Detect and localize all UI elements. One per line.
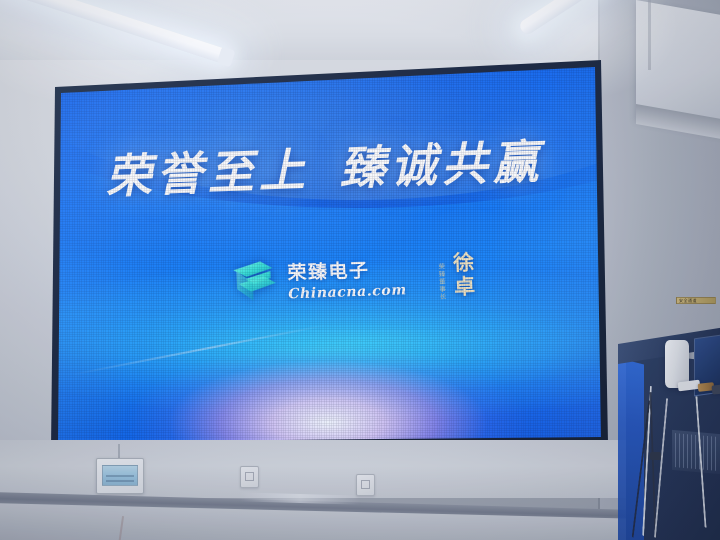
chairman-signature: 荣臻董事长 徐卓 (436, 251, 479, 301)
chinacna-logo-mark-icon (230, 258, 280, 306)
logo-company-cn: 荣臻电子 (287, 256, 370, 286)
signature-title: 荣臻董事长 (436, 263, 445, 301)
wall-sign-text: 安全通道 (679, 298, 697, 304)
cart-lower-shelf (672, 430, 720, 474)
socket-slots (361, 480, 370, 489)
headline-right-phrase: 臻诚共赢 (338, 134, 544, 195)
cart-shelf-grid (675, 433, 717, 471)
led-panel-surface: 荣誉至上臻诚共赢 (48, 60, 608, 450)
headline-left-phrase: 荣誉至上 (104, 143, 310, 204)
soffit-edge-line (648, 0, 651, 70)
wall-control-panel[interactable] (96, 458, 144, 494)
panel-readout-line (106, 475, 134, 477)
company-logo: 荣臻电子 Chinacna.com (230, 253, 407, 305)
signature-name: 徐卓 (447, 251, 479, 300)
wall-control-panel-screen (102, 465, 138, 486)
wall-socket-left[interactable] (240, 466, 259, 488)
socket-slots (245, 472, 254, 481)
cart-front-panel (618, 358, 644, 540)
power-adapter-dark (712, 384, 720, 394)
led-video-wall[interactable]: 荣誉至上臻诚共赢 (48, 60, 608, 450)
logo-text-block: 荣臻电子 Chinacna.com (287, 254, 407, 302)
room-photo-scene: 荣誉至上臻诚共赢 (0, 0, 720, 540)
wall-socket-right[interactable] (356, 474, 375, 496)
logo-company-en: Chinacna.com (288, 282, 407, 302)
slide-headline: 荣誉至上臻诚共赢 (48, 136, 605, 202)
slide-content: 荣誉至上臻诚共赢 (48, 60, 608, 450)
cable-clip (650, 452, 661, 460)
panel-readout-line (106, 480, 134, 482)
